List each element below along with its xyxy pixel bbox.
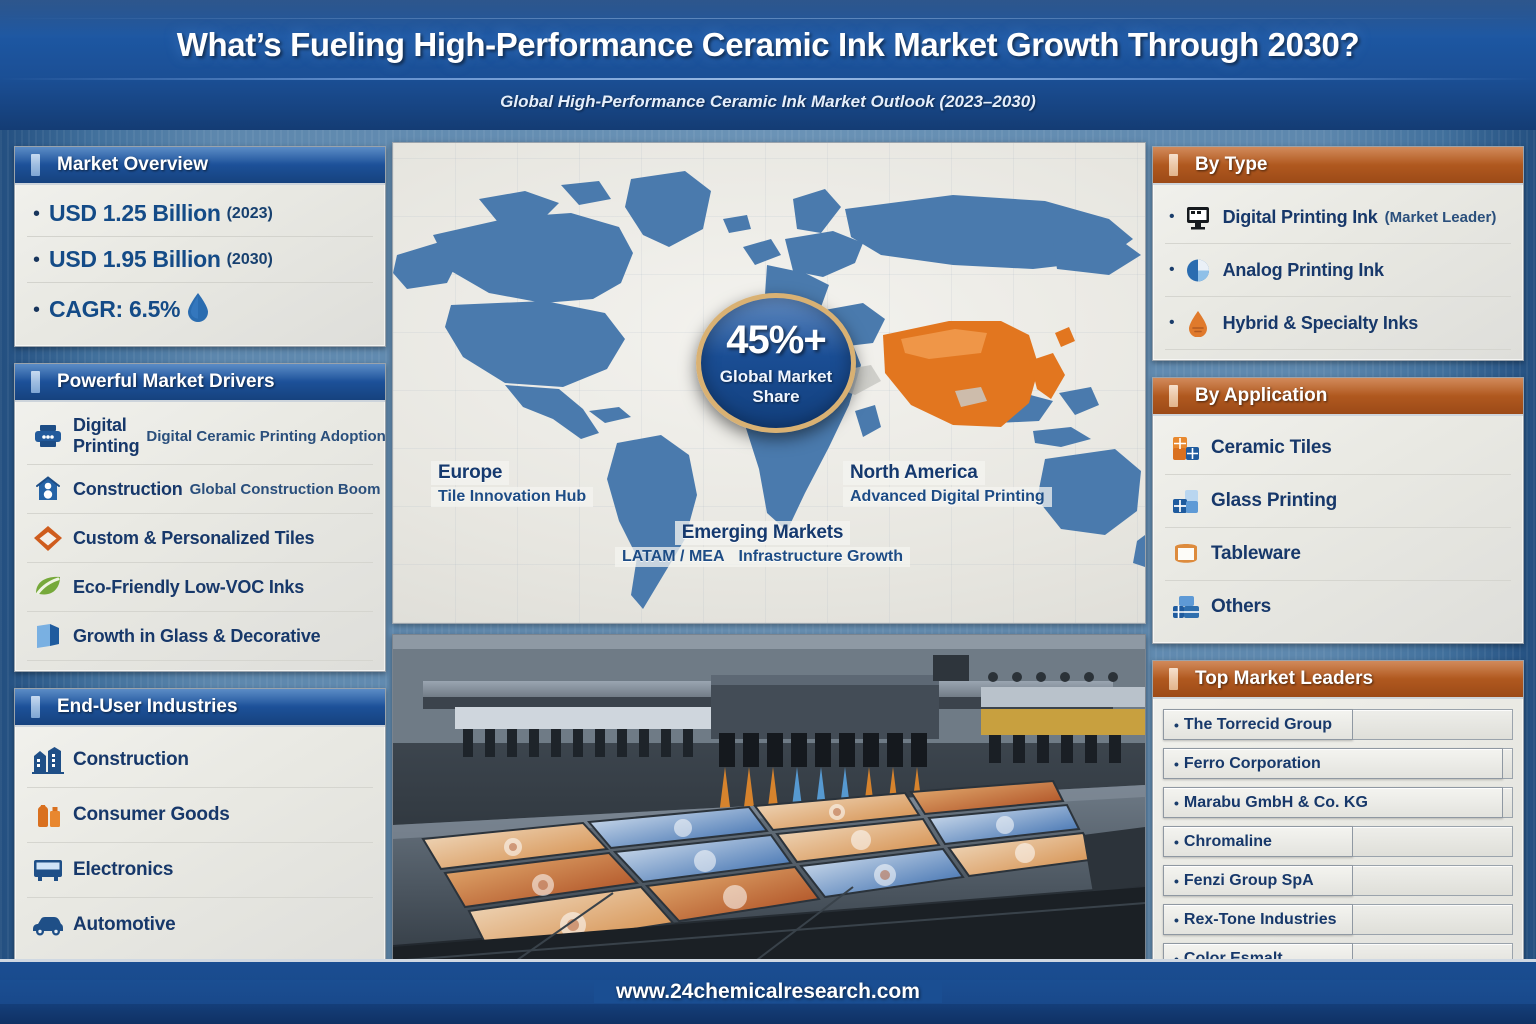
chip-filler [1353,904,1513,935]
panel-body-by-type: • Digital Printing Ink (Market Leader) • [1153,185,1523,360]
list-item: • Chromaline [1163,826,1513,857]
list-item: Eco-Friendly Low-VOC Inks [27,563,373,612]
center-column: 45%+ Global Market Share Europe Tile Inn… [392,142,1144,960]
map-label-europe: Europe Tile Innovation Hub [431,461,593,507]
tile-diamond-icon [31,524,65,552]
building-icon [31,475,65,503]
header-tick-icon [31,696,40,718]
leader-chip: • Fenzi Group SpA [1163,865,1353,896]
driver-label: Eco-Friendly Low-VOC Inks [73,577,304,598]
list-item: Digital Printing Digital Ceramic Printin… [27,408,373,465]
leader-name: Ferro Corporation [1184,755,1321,773]
list-item: Custom & Personalized Tiles [27,514,373,563]
panel-header-by-type: By Type [1153,147,1523,185]
list-item: Tableware [1165,528,1511,581]
type-note: (Market Leader) [1385,209,1497,226]
list-item: Glass Printing [1165,475,1511,528]
region-sub: Tile Innovation Hub [431,487,593,507]
infographic-root: What’s Fueling High-Performance Ceramic … [0,0,1536,1024]
leader-name: Chromaline [1184,833,1272,851]
application-label: Others [1211,596,1271,618]
left-column: Market Overview • USD 1.25 Billion (2023… [14,146,386,991]
list-item: • CAGR: 6.5% [27,283,373,336]
leader-name: Marabu GmbH & Co. KG [1184,794,1368,812]
chip-filler [1353,826,1513,857]
list-item: • Fenzi Group SpA [1163,865,1513,896]
footer-url-wrap: www.24chemicalresearch.com [0,980,1536,1004]
panel-body-by-application: Ceramic Tiles Glass Printing [1153,416,1523,643]
leaf-icon [31,573,65,601]
list-item: • Analog Printing Ink [1165,244,1511,297]
list-item: Ceramic Tiles [1165,422,1511,475]
pie-circle-icon [1181,256,1215,284]
list-item: • Ferro Corporation [1163,748,1513,779]
monitor-icon [31,856,65,884]
list-item: • USD 1.25 Billion (2023) [27,191,373,237]
map-label-north-america: North America Advanced Digital Printing [843,461,1052,507]
badge-label: Global Market Share [720,367,832,405]
panel-title-text: By Type [1195,154,1268,175]
list-item: Construction Global Construction Boom [27,465,373,514]
map-label-emerging-markets: Emerging Markets LATAM / MEAInfrastructu… [615,521,910,567]
leader-name: Fenzi Group SpA [1184,872,1314,890]
list-item: Automotive [27,898,373,952]
bullet-icon: • [33,204,40,224]
panel-body-end-user-industries: Construction Consumer Goods [15,727,385,974]
header-tick-icon [31,371,40,393]
application-label: Glass Printing [1211,490,1337,512]
world-map: 45%+ Global Market Share Europe Tile Inn… [392,142,1146,624]
bullet-icon: • [1174,912,1179,928]
panel-title-text: Top Market Leaders [1195,668,1373,689]
chip-filler [1503,748,1513,779]
industry-label: Consumer Goods [73,804,230,826]
chip-filler [1503,787,1513,818]
application-label: Tableware [1211,543,1301,565]
panel-end-user-industries: End-User Industries [14,688,386,975]
list-item: • Marabu GmbH & Co. KG [1163,787,1513,818]
panel-header-end-user-industries: End-User Industries [15,689,385,727]
page-title: What’s Fueling High-Performance Ceramic … [0,26,1536,64]
ink-drop-icon [185,292,211,327]
list-item: • USD 1.95 Billion (2030) [27,237,373,283]
leader-chip: • Ferro Corporation [1163,748,1503,779]
driver-sub: Digital Ceramic Printing Adoption [146,428,385,445]
driver-sub: Global Construction Boom [190,481,381,498]
leader-name: Rex-Tone Industries [1184,911,1337,929]
bullet-icon: • [1174,873,1179,889]
badge-label-line2: Share [752,387,799,406]
leader-chip: • Marabu GmbH & Co. KG [1163,787,1503,818]
list-item: Consumer Goods [27,788,373,843]
panel-body-market-drivers: Digital Printing Digital Ceramic Printin… [15,402,385,671]
panel-header-by-application: By Application [1153,378,1523,416]
panel-market-drivers: Powerful Market Drivers Digital Printing… [14,363,386,672]
list-item: Others [1165,581,1511,633]
driver-label: Construction [73,479,183,500]
header-tick-icon [31,154,40,176]
footer-url: www.24chemicalresearch.com [594,980,942,1003]
panel-title-text: End-User Industries [57,696,238,717]
driver-label: Custom & Personalized Tiles [73,528,314,549]
region-sub: LATAM / MEA [615,547,732,567]
bullet-icon: • [33,250,40,270]
overview-value: USD 1.25 Billion [49,200,221,227]
bullet-icon: • [1174,717,1179,733]
header-bar: What’s Fueling High-Performance Ceramic … [0,0,1536,133]
panel-title-text: Market Overview [57,154,208,175]
bowl-icon [1169,540,1203,568]
overview-value: USD 1.95 Billion [49,246,221,273]
type-label: Analog Printing Ink [1223,260,1384,281]
panel-market-overview: Market Overview • USD 1.25 Billion (2023… [14,146,386,347]
printer-illustration [393,635,1145,963]
header-tick-icon [1169,668,1178,690]
badge-value: 45%+ [726,320,825,360]
glass-panel-icon [31,622,65,650]
header-tick-icon [1169,385,1178,407]
list-item: • Hybrid & Specialty Inks [1165,297,1511,350]
panel-title-text: By Application [1195,385,1327,406]
industry-label: Electronics [73,859,173,881]
blocks-blue-icon [1169,593,1203,621]
panel-by-type: By Type • Digital Printing Ink (Market [1152,146,1524,361]
leader-chip: • The Torrecid Group [1163,709,1353,740]
industry-label: Automotive [73,914,176,936]
panel-title-text: Powerful Market Drivers [57,371,275,392]
bullet-icon: • [33,300,40,320]
panel-header-top-market-leaders: Top Market Leaders [1153,661,1523,699]
leader-name: The Torrecid Group [1184,716,1332,734]
list-item: Electronics [27,843,373,898]
glass-blue-icon [1169,487,1203,515]
bullet-icon: • [1174,795,1179,811]
panel-header-market-drivers: Powerful Market Drivers [15,364,385,402]
panel-body-market-overview: • USD 1.25 Billion (2023) • USD 1.95 Bil… [15,185,385,346]
list-item: • Rex-Tone Industries [1163,904,1513,935]
tiles-orange-icon [1169,434,1203,462]
list-item: Growth in Glass & Decorative [27,612,373,661]
chip-filler [1353,865,1513,896]
region-sub: Advanced Digital Printing [843,487,1052,507]
application-label: Ceramic Tiles [1211,437,1332,459]
car-icon [31,911,65,939]
header-tick-icon [1169,154,1178,176]
region-name: Emerging Markets [675,521,851,545]
panel-by-application: By Application Ceramic Tiles [1152,377,1524,644]
factory-icon [31,746,65,774]
list-item: • Digital Printing Ink (Market Leader) [1165,191,1511,244]
badge-label-line1: Global Market [720,367,832,386]
panel-header-market-overview: Market Overview [15,147,385,185]
leader-chip: • Chromaline [1163,826,1353,857]
bullet-icon: • [1174,756,1179,772]
overview-note: (2030) [227,251,273,269]
list-item: Construction [27,733,373,788]
type-label: Digital Printing Ink [1223,207,1378,228]
overview-note: (2023) [227,205,273,223]
bullet-icon: • [1174,834,1179,850]
region-sub2: Infrastructure Growth [732,547,910,567]
bullet-icon: • [1169,208,1175,226]
right-column: By Type • Digital Printing Ink (Market [1152,146,1524,1024]
footer-bar: www.24chemicalresearch.com [0,959,1536,1024]
list-item: • The Torrecid Group [1163,709,1513,740]
bullet-icon: • [1169,261,1175,279]
printer-icon [31,422,65,450]
driver-label: Digital Printing [73,415,139,457]
region-name: North America [843,461,985,485]
global-market-share-badge: 45%+ Global Market Share [696,293,856,433]
bottles-icon [31,801,65,829]
orange-drop-icon [1181,309,1215,337]
bullet-icon: • [1169,314,1175,332]
type-label: Hybrid & Specialty Inks [1223,313,1418,334]
leader-chip: • Rex-Tone Industries [1163,904,1353,935]
ceramic-printer-photo [392,634,1146,964]
region-name: Europe [431,461,509,485]
driver-label: Growth in Glass & Decorative [73,626,320,647]
page-subtitle: Global High-Performance Ceramic Ink Mark… [0,92,1536,112]
industry-label: Construction [73,749,189,771]
screen-ink-icon [1181,203,1215,231]
cagr-value: CAGR: 6.5% [49,296,180,323]
chip-filler [1353,709,1513,740]
